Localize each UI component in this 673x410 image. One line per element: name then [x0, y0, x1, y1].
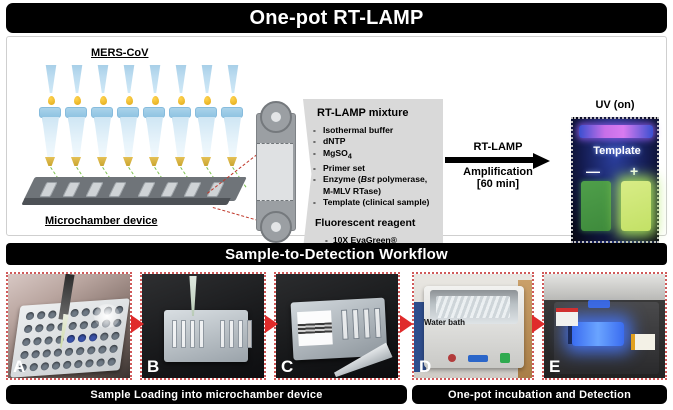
- warning-label-left: [556, 308, 578, 326]
- chip-channel: [199, 320, 204, 348]
- plate-well: [70, 309, 79, 318]
- mixture-bullet: -: [313, 136, 319, 147]
- plate-well: [98, 345, 107, 354]
- chip-channel: [172, 320, 177, 348]
- plate-well: [68, 322, 77, 331]
- plate-well: [53, 348, 62, 357]
- reaction-tube: [91, 107, 113, 167]
- plate-well: [37, 311, 46, 320]
- mixture-item: -Primer set: [313, 163, 441, 174]
- chip-channel: [220, 320, 225, 348]
- magnifier-conveyor: [254, 99, 298, 245]
- plate-well: [63, 361, 72, 370]
- plate-well: [87, 346, 96, 355]
- reaction-tube: [221, 107, 243, 167]
- template-positive-sign: +: [630, 163, 638, 179]
- plate-well: [22, 338, 31, 347]
- panel-letter-d: D: [419, 357, 431, 377]
- mixture-bullet: -: [313, 148, 319, 163]
- plate-well: [51, 361, 60, 370]
- tube-liquid: [175, 157, 185, 166]
- chip-channel: [181, 320, 186, 348]
- pipette-tip-icon: [123, 65, 135, 93]
- panel-letter-c: C: [281, 357, 293, 377]
- template-negative-sign: —: [586, 163, 600, 179]
- mixture-heading: RT-LAMP mixture: [317, 107, 408, 119]
- tube-cap: [65, 107, 87, 118]
- plate-well: [44, 336, 53, 345]
- mixture-item-list: -Isothermal buffer-dNTP-MgSO4-Primer set…: [313, 125, 441, 209]
- panel-letter-a: A: [13, 357, 25, 377]
- chip-channel: [352, 309, 360, 339]
- plate-well: [24, 325, 33, 334]
- caption-sample-loading: Sample Loading into microchamber device: [6, 385, 407, 404]
- mixture-item: -Template (clinical sample): [313, 197, 441, 208]
- plate-well: [25, 312, 34, 321]
- microchamber-device: [29, 177, 241, 211]
- sample-droplet-icon: [100, 96, 107, 105]
- chip-channel: [374, 308, 382, 338]
- display-panel: [468, 355, 488, 362]
- power-indicator-icon: [448, 354, 456, 362]
- sample-label: MERS-CoV: [91, 47, 148, 59]
- flow-arrow-d-e-icon: [532, 315, 545, 333]
- reaction-tube-row: [39, 107, 251, 169]
- tube-liquid: [123, 157, 133, 166]
- arrow-label-line1: RT-LAMP: [445, 141, 551, 153]
- mixture-item-label: Template (clinical sample): [323, 197, 429, 208]
- water-bath-unit: [424, 286, 524, 368]
- reaction-tube: [195, 107, 217, 167]
- conveyor-window: [257, 143, 293, 201]
- plate-well: [107, 358, 116, 367]
- reaction-tube: [143, 107, 165, 167]
- reaction-tube: [117, 107, 139, 167]
- sample-droplet-icon: [126, 96, 133, 105]
- chip-channel: [190, 320, 195, 348]
- tube-liquid: [149, 157, 159, 166]
- plate-well: [77, 334, 86, 343]
- mixture-item-label: Primer set: [323, 163, 365, 174]
- sample-droplet-icon: [48, 96, 55, 105]
- pipette-tip-icon: [97, 65, 109, 93]
- workflow-photo-d: Water bath D: [412, 272, 534, 380]
- sample-droplet-icon: [204, 96, 211, 105]
- tube-cap: [117, 107, 139, 118]
- reaction-tube: [39, 107, 61, 167]
- pipette-tip-icon: [175, 65, 187, 93]
- mixture-bullet: -: [313, 125, 319, 136]
- amplification-arrow-block: RT-LAMP Amplification [60 min]: [445, 141, 551, 205]
- water-bath-lid: [436, 296, 510, 318]
- caption-incubation-detection: One-pot incubation and Detection: [412, 385, 667, 404]
- mixture-bullet: -: [313, 174, 319, 185]
- sample-droplet-icon: [74, 96, 81, 105]
- workflow-title: Sample-to-Detection Workflow: [6, 243, 667, 265]
- tube-cap: [91, 107, 113, 118]
- pipette-tip-icon: [227, 65, 239, 93]
- well-negative: [581, 181, 611, 231]
- mixture-item-label: M-MLV RTase): [323, 186, 381, 197]
- mixture-item: -dNTP: [313, 136, 441, 147]
- uv-result-group: UV (on) Template — +: [564, 99, 666, 249]
- plate-well: [33, 337, 42, 346]
- warning-label-right: [631, 334, 655, 350]
- arrow-graphic: [445, 154, 551, 165]
- plate-well: [29, 363, 38, 372]
- chip-channel: [238, 320, 243, 348]
- workflow-photo-b: B: [140, 272, 266, 380]
- photo-a-highlight: [94, 304, 120, 328]
- pipette-tip-row: [45, 65, 245, 99]
- pipette-tip-icon: [71, 65, 83, 93]
- mixture-item-label: MgSO4: [323, 148, 352, 163]
- plate-well: [100, 332, 109, 341]
- plate-well: [42, 349, 51, 358]
- sample-droplet-icon: [230, 96, 237, 105]
- pipette-tip-icon: [201, 65, 213, 93]
- mixture-item-label: Isothermal buffer: [323, 125, 393, 136]
- tube-cap: [143, 107, 165, 118]
- reaction-tube: [65, 107, 87, 167]
- roller-bottom: [260, 211, 292, 243]
- arrow-shaft: [445, 157, 537, 163]
- chip-channel: [341, 310, 349, 340]
- arrow-label-line3: [60 min]: [445, 178, 551, 190]
- chip-channel: [247, 320, 252, 348]
- mixture-bullet: [313, 186, 319, 197]
- sample-droplet-icon: [178, 96, 185, 105]
- tube-cap: [195, 107, 217, 118]
- tube-cap: [39, 107, 61, 118]
- plate-well: [64, 348, 73, 357]
- mixture-item: -MgSO4: [313, 148, 441, 163]
- plate-well: [31, 350, 40, 359]
- uv-glow-divider: [568, 324, 572, 344]
- tray-handle: [588, 300, 610, 308]
- plate-well: [40, 362, 49, 371]
- reaction-tube: [169, 107, 191, 167]
- plate-well: [66, 335, 75, 344]
- mixture-item-label: Enzyme (Bst polymerase,: [323, 174, 427, 185]
- flow-arrow-a-b-icon: [131, 315, 144, 333]
- transilluminator-body: [544, 274, 665, 300]
- mixture-item: M-MLV RTase): [313, 186, 441, 197]
- schematic-panel: MERS-CoV Microchamber device RT-LAMP mix…: [6, 36, 667, 236]
- chip-channel: [229, 320, 234, 348]
- roller-top: [260, 101, 292, 133]
- uv-label: UV (on): [564, 99, 666, 111]
- chip-channel: [363, 308, 371, 338]
- rt-lamp-mixture-box: RT-LAMP mixture -Isothermal buffer-dNTP-…: [303, 99, 443, 249]
- uv-lamp-icon: [579, 125, 653, 138]
- workflow-photo-a: A: [6, 272, 132, 380]
- plate-well: [89, 333, 98, 342]
- flow-arrow-c-d-icon: [400, 315, 413, 333]
- pipette-tip-icon: [45, 65, 57, 93]
- microchamber-chip-b: [164, 310, 248, 362]
- panel-letter-b: B: [147, 357, 159, 377]
- film-stripe: [298, 322, 332, 334]
- plate-well: [48, 310, 57, 319]
- device-label: Microchamber device: [45, 215, 158, 227]
- mixture-bullet: -: [313, 197, 319, 208]
- water-bath-overlay-label: Water bath: [424, 318, 465, 327]
- well-positive: [621, 181, 651, 231]
- arrow-head-icon: [533, 153, 550, 169]
- plate-well: [81, 308, 90, 317]
- plate-well: [46, 323, 55, 332]
- plate-well: [109, 345, 118, 354]
- tube-cap: [169, 107, 191, 118]
- mixture-item-label: dNTP: [323, 136, 345, 147]
- tube-liquid: [97, 157, 107, 166]
- plate-well: [35, 324, 44, 333]
- uv-glow-region: [572, 322, 624, 346]
- template-label: Template: [573, 145, 661, 157]
- mixture-bullet: -: [313, 163, 319, 174]
- panel-letter-e: E: [549, 357, 560, 377]
- plate-well: [79, 321, 88, 330]
- tube-liquid: [201, 157, 211, 166]
- uv-chamber: Template — +: [571, 117, 659, 243]
- reagent-heading: Fluorescent reagent: [315, 217, 415, 229]
- pipette-tip-icon: [149, 65, 161, 93]
- tube-cap: [221, 107, 243, 118]
- plate-well: [96, 358, 105, 367]
- sample-droplet-icon: [152, 96, 159, 105]
- mixture-item: -Enzyme (Bst polymerase,: [313, 174, 441, 185]
- tube-liquid: [227, 157, 237, 166]
- plate-well: [85, 359, 94, 368]
- plate-well: [111, 332, 120, 341]
- workflow-photo-e: E: [542, 272, 667, 380]
- tube-liquid: [45, 157, 55, 166]
- flow-arrow-b-c-icon: [265, 315, 278, 333]
- figure-root: One-pot RT-LAMP MERS-CoV Microchamber de…: [0, 0, 673, 410]
- tube-liquid: [71, 157, 81, 166]
- plate-well: [76, 347, 85, 356]
- run-indicator-icon: [500, 353, 510, 363]
- mixture-item: -Isothermal buffer: [313, 125, 441, 136]
- figure-main-title: One-pot RT-LAMP: [6, 3, 667, 33]
- plate-well: [74, 360, 83, 369]
- device-edge: [21, 198, 230, 205]
- workflow-photo-c: C: [274, 272, 400, 380]
